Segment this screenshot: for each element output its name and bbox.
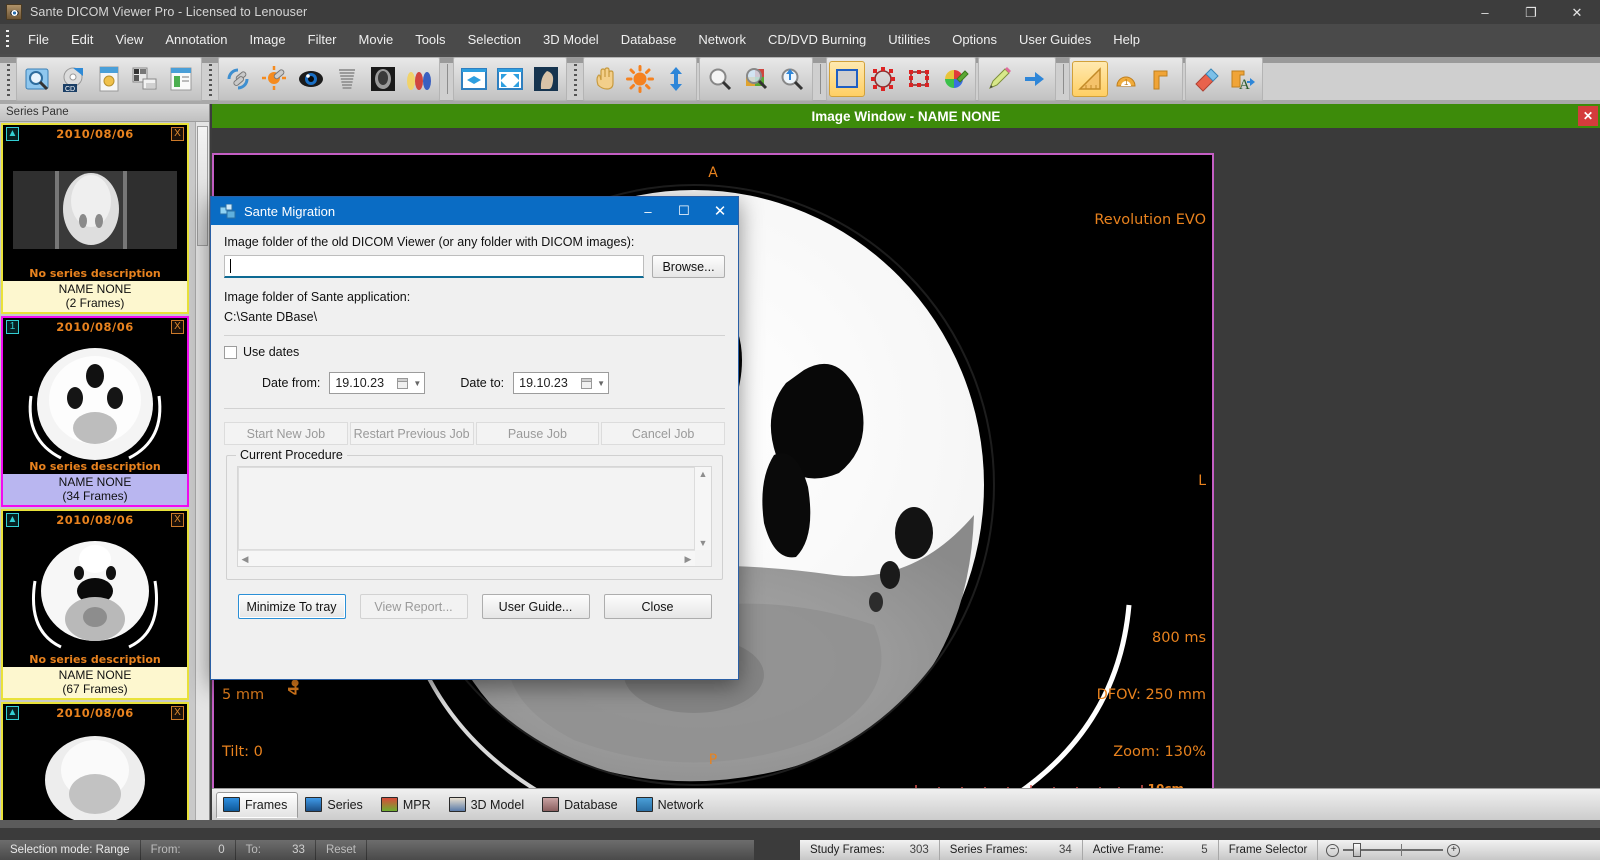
- toolbar-group-0: CD: [16, 57, 202, 101]
- mpr-icon: [381, 797, 398, 812]
- overlay-tilt: Tilt: 0: [222, 743, 283, 762]
- stack-button[interactable]: [330, 62, 364, 96]
- menu-item-filter[interactable]: Filter: [297, 27, 348, 52]
- thumbnail-header: 12010/08/06X: [3, 318, 187, 336]
- bottom-tab-frames[interactable]: Frames: [216, 792, 298, 818]
- arrow-annotation-icon: [1021, 65, 1049, 93]
- series-scroll-thumb[interactable]: [197, 126, 208, 246]
- overlay-dfov: DFOV: 250 mm: [1097, 686, 1206, 705]
- status-right-study-frames-: Study Frames:303: [800, 840, 940, 860]
- arrow-annotation-button[interactable]: [1018, 62, 1052, 96]
- color-palette-icon: [941, 65, 969, 93]
- source-folder-input[interactable]: [224, 255, 644, 278]
- use-dates-checkbox[interactable]: [224, 346, 237, 359]
- thumbnail-patient-name: NAME NONE: [3, 475, 187, 489]
- svg-text:CD: CD: [65, 86, 75, 93]
- thumbnail-image[interactable]: No series description: [3, 143, 187, 281]
- toolbar-separator: [447, 64, 448, 94]
- toolbar-group-gripper-icon[interactable]: [207, 61, 215, 97]
- ruler-triangle-icon: [1076, 65, 1104, 93]
- status-left-selection-mode-range: Selection mode: Range: [0, 840, 141, 860]
- head-scout-icon: [369, 65, 397, 93]
- thumbnail-image[interactable]: [3, 722, 187, 820]
- 3d-model-icon: [449, 797, 466, 812]
- toolbar-group-5: [826, 57, 976, 101]
- presets-icon: [405, 65, 433, 93]
- thumbnail-patient-name: NAME NONE: [3, 668, 187, 682]
- dialog-title-bar: Sante Migration – ☐ ✕: [211, 197, 738, 225]
- mpr-face-icon: [532, 65, 560, 93]
- fit-full-icon: [496, 65, 524, 93]
- migration-icon: [220, 204, 236, 219]
- zoom-icon: [706, 65, 734, 93]
- frame-slider-track[interactable]: [1343, 849, 1443, 851]
- overlay-scanner-model: Revolution EVO: [1094, 211, 1206, 230]
- thumbnail-description: No series description: [3, 653, 187, 666]
- dialog-footer: Minimize To trayView Report...User Guide…: [224, 594, 725, 619]
- orientation-left: L: [1198, 473, 1206, 489]
- status-label: Frame Selector: [1229, 844, 1308, 856]
- status-right-series-frames-: Series Frames:34: [940, 840, 1083, 860]
- menu-item-network[interactable]: Network: [687, 27, 757, 52]
- browse-button[interactable]: Browse...: [652, 255, 725, 278]
- anonymize-icon: [95, 65, 123, 93]
- thumbnail-date: 2010/08/06: [3, 513, 187, 527]
- search-image-button[interactable]: [20, 62, 54, 96]
- menu-item-edit[interactable]: Edit: [60, 27, 104, 52]
- status-left-reset[interactable]: Reset: [316, 840, 367, 860]
- cd-burn-icon: CD: [59, 65, 87, 93]
- text-annotation-icon: A: [1228, 65, 1256, 93]
- frame-slider-knob[interactable]: [1353, 843, 1361, 857]
- date-from-label: Date from:: [262, 376, 320, 390]
- zoom-color-button[interactable]: [739, 62, 773, 96]
- dialog-title: Sante Migration: [244, 204, 335, 219]
- pan-hand-button[interactable]: [587, 62, 621, 96]
- thumbnail-label: NAME NONE(67 Frames): [3, 667, 187, 698]
- zoom-color-icon: [742, 65, 770, 93]
- color-palette-button[interactable]: [938, 62, 972, 96]
- current-procedure-text[interactable]: [238, 467, 695, 550]
- status-value: 0: [181, 844, 225, 856]
- series-thumbnail-list[interactable]: ▲2010/08/06XNo series descriptionNAME NO…: [0, 122, 196, 820]
- bottom-tab-label: Database: [564, 798, 618, 812]
- bottom-tab-label: Frames: [245, 798, 287, 812]
- current-procedure-box: ▲ ▼ ◀ ▶: [237, 466, 712, 567]
- status-value: 5: [1164, 844, 1208, 856]
- toolbar-group-4: [699, 57, 813, 101]
- series-pane-scrollbar[interactable]: [195, 122, 209, 820]
- menu-bar: FileEditViewAnnotationImageFilterMovieTo…: [0, 24, 1600, 54]
- app-eye-icon: [6, 4, 22, 20]
- status-label: To:: [246, 844, 261, 856]
- thumbnail-description: No series description: [3, 460, 187, 473]
- job-button-pause-job: Pause Job: [476, 422, 600, 445]
- bottom-tab-series[interactable]: Series: [298, 792, 373, 818]
- report-button[interactable]: [164, 62, 198, 96]
- image-window-title: Image Window - NAME NONE: [812, 109, 1001, 124]
- thumbnail-image[interactable]: No series description: [3, 529, 187, 667]
- dest-folder-label: Image folder of Sante application:: [224, 290, 725, 304]
- print-images-icon: [131, 65, 159, 93]
- brightness-button[interactable]: [623, 62, 657, 96]
- rect-roi-icon: [905, 65, 933, 93]
- procedure-horizontal-scrollbar[interactable]: ◀ ▶: [238, 550, 695, 566]
- job-button-start-new-job: Start New Job: [224, 422, 348, 445]
- calendar-icon[interactable]: [579, 375, 594, 391]
- thumbnail-date: 2010/08/06: [3, 320, 187, 334]
- series-pane: Series Pane ▲2010/08/06XNo series descri…: [0, 104, 210, 820]
- bottom-tab-label: Series: [327, 798, 362, 812]
- text-caret: [230, 259, 231, 273]
- fit-window-button[interactable]: [457, 62, 491, 96]
- menu-item-view[interactable]: View: [104, 27, 154, 52]
- orientation-anterior: A: [708, 165, 718, 181]
- menu-item-selection[interactable]: Selection: [457, 27, 532, 52]
- pencil-icon: [985, 65, 1013, 93]
- main-toolbar: CD1A: [0, 54, 1600, 104]
- dialog-minimize-button[interactable]: –: [630, 197, 666, 225]
- dialog-close-button[interactable]: ✕: [702, 197, 738, 225]
- fit-window-icon: [460, 65, 488, 93]
- dialog-body: Image folder of the old DICOM Viewer (or…: [211, 225, 738, 619]
- menu-item-movie[interactable]: Movie: [348, 27, 405, 52]
- orientation-posterior: P: [709, 752, 717, 768]
- fit-full-button[interactable]: [493, 62, 527, 96]
- dialog-close-button[interactable]: Close: [604, 594, 712, 619]
- thumbnail-date: 2010/08/06: [3, 127, 187, 141]
- network-icon: [636, 797, 653, 812]
- report-icon: [167, 65, 195, 93]
- status-label: From:: [151, 844, 181, 856]
- status-value: 303: [885, 844, 929, 856]
- menu-item-tools[interactable]: Tools: [404, 27, 456, 52]
- toolbar-group-6: [978, 57, 1056, 101]
- divider-2: [224, 408, 725, 409]
- thumbnail-frame-count: (2 Frames): [3, 296, 187, 310]
- dialog-user-guide--button[interactable]: User Guide...: [482, 594, 590, 619]
- stack-icon: [333, 65, 361, 93]
- status-value: 34: [1028, 844, 1072, 856]
- thumbnail-patient-name: NAME NONE: [3, 282, 187, 296]
- select-rect-icon: [833, 65, 861, 93]
- thumbnail-description: No series description: [3, 267, 187, 280]
- scroll-left-icon[interactable]: ◀: [238, 551, 252, 567]
- status-right-active-frame-: Active Frame:5: [1083, 840, 1219, 860]
- date-to-input[interactable]: 19.10.23 ▼: [513, 372, 609, 394]
- toolbar-gripper-icon[interactable]: [5, 61, 13, 97]
- chevron-down-icon[interactable]: ▼: [410, 373, 424, 393]
- overlay-bottom-right: 800 ms DFOV: 250 mm Zoom: 130%: [1097, 591, 1206, 800]
- scroll-right-icon[interactable]: ▶: [681, 551, 695, 567]
- job-button-row: Start New JobRestart Previous JobPause J…: [224, 422, 725, 445]
- thumbnail-close-icon[interactable]: X: [171, 320, 184, 334]
- overlay-top-right: Revolution EVO: [1094, 173, 1206, 268]
- bottom-tab-network[interactable]: Network: [629, 792, 715, 818]
- bottom-tab-label: 3D Model: [471, 798, 525, 812]
- series-pane-header: Series Pane: [0, 104, 209, 122]
- date-from-input[interactable]: 19.10.23 ▼: [329, 372, 425, 394]
- menu-item-database[interactable]: Database: [610, 27, 688, 52]
- date-from-value: 19.10.23: [335, 376, 384, 390]
- dialog-minimize-to-tray-button[interactable]: Minimize To tray: [238, 594, 346, 619]
- menu-item-3d-model[interactable]: 3D Model: [532, 27, 610, 52]
- brightness-icon: [626, 65, 654, 93]
- series-thumbnail[interactable]: ▲2010/08/06XNo series descriptionNAME NO…: [1, 123, 189, 314]
- thumbnail-date: 2010/08/06: [3, 706, 187, 720]
- eye-button[interactable]: [294, 62, 328, 96]
- mpr-face-button[interactable]: [529, 62, 563, 96]
- status-label: Selection mode: Range: [10, 844, 130, 856]
- angle-button[interactable]: [1145, 62, 1179, 96]
- maximize-button[interactable]: ❐: [1508, 0, 1554, 24]
- overlay-slice-thickness: 5 mm: [222, 686, 283, 705]
- toolbar-group-gripper-icon[interactable]: [572, 61, 580, 97]
- frames-icon: [223, 797, 240, 812]
- eraser-button[interactable]: [1189, 62, 1223, 96]
- anonymize-button[interactable]: [92, 62, 126, 96]
- overlay-zoom: Zoom: 130%: [1097, 743, 1206, 762]
- frame-slider-tick: [1401, 844, 1402, 856]
- menu-item-image[interactable]: Image: [238, 27, 296, 52]
- menu-gripper-icon[interactable]: [4, 28, 13, 50]
- job-button-restart-previous-job: Restart Previous Job: [350, 422, 474, 445]
- status-value: 33: [261, 844, 305, 856]
- status-label: Series Frames:: [950, 844, 1028, 856]
- thumbnail-close-icon[interactable]: X: [171, 127, 184, 141]
- eye-icon: [297, 65, 325, 93]
- use-dates-label: Use dates: [243, 345, 299, 359]
- current-procedure-group: Current Procedure ▲ ▼ ◀ ▶: [226, 455, 723, 580]
- bottom-tab-mpr[interactable]: MPR: [374, 792, 442, 818]
- status-bar-right: Study Frames:303Series Frames:34Active F…: [800, 840, 1600, 860]
- svg-text:A: A: [1239, 77, 1250, 93]
- status-label: Reset: [326, 844, 356, 856]
- bottom-tab-database[interactable]: Database: [535, 792, 629, 818]
- use-dates-row[interactable]: Use dates: [224, 345, 725, 359]
- ellipse-roi-button[interactable]: [866, 62, 900, 96]
- sync-link-button[interactable]: [222, 62, 256, 96]
- scroll-frames-button[interactable]: [659, 62, 693, 96]
- image-window-title-bar: Image Window - NAME NONE ✕: [212, 104, 1600, 128]
- status-left-to-: To:33: [236, 840, 316, 860]
- procedure-vertical-scrollbar[interactable]: ▲ ▼: [695, 467, 711, 550]
- pan-hand-icon: [590, 65, 618, 93]
- sante-migration-dialog[interactable]: Sante Migration – ☐ ✕ Image folder of th…: [210, 196, 739, 680]
- source-folder-label: Image folder of the old DICOM Viewer (or…: [224, 235, 725, 249]
- toolbar-separator: [1063, 64, 1064, 94]
- presets-button[interactable]: [402, 62, 436, 96]
- sync-link-icon: [225, 65, 253, 93]
- thumbnail-close-icon[interactable]: X: [171, 706, 184, 720]
- date-to-label: Date to:: [460, 376, 504, 390]
- head-scout-button[interactable]: [366, 62, 400, 96]
- menu-item-help[interactable]: Help: [1102, 27, 1151, 52]
- rect-roi-button[interactable]: [902, 62, 936, 96]
- scroll-frames-icon: [662, 65, 690, 93]
- search-image-icon: [23, 65, 51, 93]
- divider-1: [224, 335, 725, 336]
- app-title: Sante DICOM Viewer Pro - Licensed to Len…: [30, 5, 307, 19]
- menu-item-user-guides[interactable]: User Guides: [1008, 27, 1102, 52]
- toolbar-group-8: A: [1185, 57, 1263, 101]
- zoom-fit-button[interactable]: [775, 62, 809, 96]
- cd-burn-button[interactable]: CD: [56, 62, 90, 96]
- angle-icon: [1148, 65, 1176, 93]
- minimize-button[interactable]: –: [1462, 0, 1508, 24]
- svg-text:1: 1: [1124, 78, 1129, 87]
- thumbnail-label: NAME NONE(34 Frames): [3, 474, 187, 505]
- print-images-button[interactable]: [128, 62, 162, 96]
- eraser-icon: [1192, 65, 1220, 93]
- thumbnail-header: ▲2010/08/06X: [3, 704, 187, 722]
- scroll-up-icon[interactable]: ▲: [695, 467, 711, 481]
- bottom-tab-label: MPR: [403, 798, 431, 812]
- app-title-bar: Sante DICOM Viewer Pro - Licensed to Len…: [0, 0, 1600, 24]
- status-left-from-: From:0: [141, 840, 236, 860]
- bottom-tab-3d-model[interactable]: 3D Model: [442, 792, 536, 818]
- series-thumbnail[interactable]: ▲2010/08/06XNo series descriptionNAME NO…: [1, 509, 189, 700]
- series-icon: [305, 797, 322, 812]
- menu-item-cd-dvd-burning[interactable]: CD/DVD Burning: [757, 27, 877, 52]
- job-button-cancel-job: Cancel Job: [601, 422, 725, 445]
- thumbnail-frame-count: (67 Frames): [3, 682, 187, 696]
- status-right-frame-selector: Frame Selector: [1219, 840, 1319, 860]
- thumbnail-close-icon[interactable]: X: [171, 513, 184, 527]
- zoom-fit-icon: [778, 65, 806, 93]
- toolbar-separator: [820, 64, 821, 94]
- current-procedure-title: Current Procedure: [236, 448, 347, 462]
- pencil-button[interactable]: [982, 62, 1016, 96]
- date-to-value: 19.10.23: [519, 376, 568, 390]
- ellipse-roi-icon: [869, 65, 897, 93]
- text-annotation-button[interactable]: A: [1225, 62, 1259, 96]
- thumbnail-header: ▲2010/08/06X: [3, 511, 187, 529]
- frame-selector-slider[interactable]: −+: [1318, 844, 1460, 857]
- menu-item-options[interactable]: Options: [941, 27, 1008, 52]
- protractor-button[interactable]: 1: [1109, 62, 1143, 96]
- toolbar-group-7: 1: [1069, 57, 1183, 101]
- toolbar-group-3: [583, 57, 697, 101]
- dialog-maximize-button[interactable]: ☐: [666, 197, 702, 225]
- dialog-view-report--button: View Report...: [360, 594, 468, 619]
- overlay-exposure-time: 800 ms: [1097, 629, 1206, 648]
- zoom-button[interactable]: [703, 62, 737, 96]
- toolbar-group-1: [218, 57, 440, 101]
- toolbar-group-2: [453, 57, 567, 101]
- menu-item-utilities[interactable]: Utilities: [877, 27, 941, 52]
- status-bar-left: Selection mode: RangeFrom:0To:33Reset: [0, 840, 754, 860]
- thumbnail-header: ▲2010/08/06X: [3, 125, 187, 143]
- wl-link-button[interactable]: [258, 62, 292, 96]
- ruler-triangle-button[interactable]: [1073, 62, 1107, 96]
- select-rect-button[interactable]: [830, 62, 864, 96]
- date-range-row: Date from: 19.10.23 ▼ Date to: 19.10.23 …: [262, 372, 725, 394]
- bottom-tab-label: Network: [658, 798, 704, 812]
- thumbnail-label: NAME NONE(2 Frames): [3, 281, 187, 312]
- dialog-window-controls: – ☐ ✕: [630, 197, 738, 225]
- database-icon: [542, 797, 559, 812]
- window-controls: – ❐ ✕: [1462, 0, 1600, 24]
- frame-increment-icon[interactable]: +: [1447, 844, 1460, 857]
- frame-decrement-icon[interactable]: −: [1326, 844, 1339, 857]
- series-thumbnail[interactable]: ▲2010/08/06X: [1, 702, 189, 820]
- menu-item-file[interactable]: File: [17, 27, 60, 52]
- menu-item-annotation[interactable]: Annotation: [154, 27, 238, 52]
- status-label: Active Frame:: [1093, 844, 1164, 856]
- chevron-down-icon[interactable]: ▼: [594, 373, 608, 393]
- series-thumbnail[interactable]: 12010/08/06XNo series descriptionNAME NO…: [1, 316, 189, 507]
- scroll-down-icon[interactable]: ▼: [695, 536, 711, 550]
- source-folder-row: Browse...: [224, 255, 725, 278]
- close-button[interactable]: ✕: [1554, 0, 1600, 24]
- status-label: Study Frames:: [810, 844, 885, 856]
- thumbnail-frame-count: (34 Frames): [3, 489, 187, 503]
- thumbnail-image[interactable]: No series description: [3, 336, 187, 474]
- dest-folder-value: C:\Sante DBase\: [224, 310, 725, 324]
- calendar-icon[interactable]: [395, 375, 410, 391]
- wl-link-icon: [261, 65, 289, 93]
- protractor-icon: 1: [1112, 65, 1140, 93]
- status-bar: Selection mode: RangeFrom:0To:33Reset St…: [0, 820, 1600, 860]
- bottom-tab-bar: FramesSeriesMPR3D ModelDatabaseNetwork: [212, 788, 1600, 820]
- image-window-close-icon[interactable]: ✕: [1578, 106, 1598, 126]
